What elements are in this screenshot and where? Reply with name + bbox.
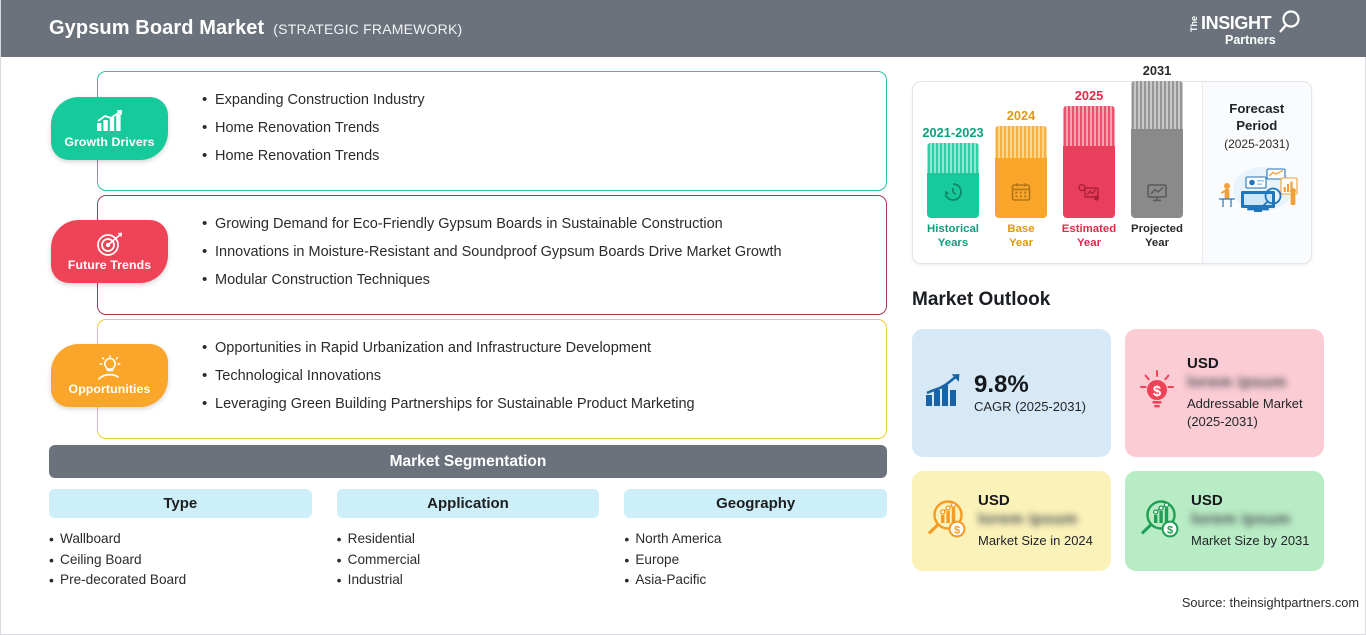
infographic-canvas: Gypsum Board Market (STRATEGIC FRAMEWORK… bbox=[0, 0, 1366, 635]
addressable-usd-label: USD bbox=[1187, 355, 1312, 372]
cagr-card-text: 9.8% CAGR (2025-2031) bbox=[974, 371, 1086, 416]
header-title-group: Gypsum Board Market (STRATEGIC FRAMEWORK… bbox=[49, 17, 462, 40]
market-segmentation-heading: Market Segmentation bbox=[49, 445, 887, 478]
insight-partners-logo: The INSIGHT Partners bbox=[1181, 8, 1309, 50]
segmentation-pill-application[interactable]: Application bbox=[337, 489, 600, 518]
list-item: Modular Construction Techniques bbox=[202, 266, 886, 294]
growth-drivers-badge[interactable]: Growth Drivers bbox=[51, 97, 168, 160]
bar-year-label: 2024 bbox=[1007, 108, 1035, 123]
opportunities-badge-label: Opportunities bbox=[69, 382, 151, 396]
list-item: Innovations in Moisture-Resistant and So… bbox=[202, 238, 886, 266]
forecast-period-range: (2025-2031) bbox=[1224, 137, 1289, 151]
segmentation-items-application: Residential Commercial Industrial bbox=[337, 529, 600, 591]
timeline-bar-projected: 2031 bbox=[1131, 63, 1183, 250]
lightbulb-dollar-icon: $ bbox=[1137, 369, 1177, 418]
market-size-2024-label: Market Size in 2024 bbox=[978, 532, 1093, 550]
future-trends-badge-label: Future Trends bbox=[68, 258, 151, 272]
list-item: Pre-decorated Board bbox=[49, 570, 312, 591]
segmentation-column-application: Application Residential Commercial Indus… bbox=[337, 489, 600, 591]
market-size-2031-usd-label: USD bbox=[1191, 492, 1310, 509]
cagr-value: 9.8% bbox=[974, 371, 1086, 398]
bar-caption: Historical Years bbox=[927, 223, 979, 250]
page-subtitle: (STRATEGIC FRAMEWORK) bbox=[273, 21, 462, 37]
bar-chart-growth-icon bbox=[95, 108, 125, 134]
bar-caption: Base Year bbox=[995, 223, 1047, 250]
clock-history-icon bbox=[942, 181, 964, 208]
market-size-2024-usd-label: USD bbox=[978, 492, 1093, 509]
segmentation-items-type: Wallboard Ceiling Board Pre-decorated Bo… bbox=[49, 529, 312, 591]
market-outlook-cards: 9.8% CAGR (2025-2031) bbox=[912, 329, 1324, 571]
bar-caption: Projected Year bbox=[1131, 223, 1183, 250]
page-header: Gypsum Board Market (STRATEGIC FRAMEWORK… bbox=[1, 0, 1366, 57]
projection-monitor-icon bbox=[1145, 181, 1169, 208]
list-item: Home Renovation Trends bbox=[202, 142, 886, 170]
lightbulb-hand-icon bbox=[95, 355, 125, 381]
forecast-period-title: Forecast Period bbox=[1229, 100, 1284, 134]
bar-year-label: 2031 bbox=[1143, 63, 1171, 78]
list-item: North America bbox=[624, 529, 887, 550]
market-size-2024-text: USD lorem ipsum Market Size in 2024 bbox=[978, 492, 1093, 550]
market-size-2024-value-blurred: lorem ipsum bbox=[978, 511, 1093, 529]
right-column: 2021-2023 bbox=[901, 57, 1366, 635]
left-column: Expanding Construction Industry Home Ren… bbox=[1, 57, 901, 635]
analytics-dashboard-illustration bbox=[1211, 161, 1303, 222]
segmentation-pill-type[interactable]: Type bbox=[49, 489, 312, 518]
forecast-title-line1: Forecast bbox=[1229, 101, 1284, 116]
market-outlook-heading: Market Outlook bbox=[912, 289, 1050, 311]
list-item: Residential bbox=[337, 529, 600, 550]
forecast-timeline-chart: 2021-2023 bbox=[912, 81, 1312, 264]
list-item: Europe bbox=[624, 550, 887, 571]
bar-year-label: 2025 bbox=[1075, 88, 1103, 103]
bar-caption: Estimated Year bbox=[1062, 223, 1116, 250]
list-item: Home Renovation Trends bbox=[202, 114, 886, 142]
list-item: Wallboard bbox=[49, 529, 312, 550]
future-trends-panel: Growing Demand for Eco-Friendly Gypsum B… bbox=[97, 195, 887, 315]
bar-chart-arrow-up-icon bbox=[924, 373, 964, 414]
cagr-label: CAGR (2025-2031) bbox=[974, 398, 1086, 416]
list-item: Growing Demand for Eco-Friendly Gypsum B… bbox=[202, 210, 886, 238]
market-size-2031-text: USD lorem ipsum Market Size by 2031 bbox=[1191, 492, 1310, 550]
market-size-2024-card: $ USD lorem ipsum Market Size in 2024 bbox=[912, 471, 1111, 571]
bar-body bbox=[995, 126, 1047, 218]
segmentation-column-geography: Geography North America Europe Asia-Paci… bbox=[624, 489, 887, 591]
list-item: Opportunities in Rapid Urbanization and … bbox=[202, 334, 886, 362]
magnifier-bar-chart-dollar-icon: $ bbox=[924, 498, 968, 545]
magnifier-bar-chart-dollar-icon: $ bbox=[1137, 498, 1181, 545]
svg-text:$: $ bbox=[954, 524, 960, 536]
calendar-icon bbox=[1010, 181, 1032, 208]
future-trends-badge[interactable]: Future Trends bbox=[51, 220, 168, 283]
list-item: Technological Innovations bbox=[202, 362, 886, 390]
timeline-bar-historical: 2021-2023 bbox=[927, 125, 979, 250]
estimate-chart-icon bbox=[1077, 181, 1101, 208]
market-size-2031-label: Market Size by 2031 bbox=[1191, 532, 1310, 550]
svg-text:INSIGHT: INSIGHT bbox=[1201, 13, 1272, 33]
timeline-bar-estimated: 2025 bbox=[1063, 88, 1115, 250]
segmentation-columns: Type Wallboard Ceiling Board Pre-decorat… bbox=[49, 489, 887, 591]
opportunities-panel: Opportunities in Rapid Urbanization and … bbox=[97, 319, 887, 439]
growth-drivers-badge-label: Growth Drivers bbox=[64, 135, 154, 149]
svg-text:$: $ bbox=[1153, 383, 1162, 400]
cagr-card: 9.8% CAGR (2025-2031) bbox=[912, 329, 1111, 457]
segmentation-items-geography: North America Europe Asia-Pacific bbox=[624, 529, 887, 591]
svg-text:$: $ bbox=[1167, 524, 1173, 536]
market-size-2031-card: $ USD lorem ipsum Market Size by 2031 bbox=[1125, 471, 1324, 571]
bar-body bbox=[1063, 106, 1115, 218]
list-item: Asia-Pacific bbox=[624, 570, 887, 591]
bar-body bbox=[927, 143, 979, 218]
growth-drivers-panel: Expanding Construction Industry Home Ren… bbox=[97, 71, 887, 191]
addressable-market-text: USD lorem ipsum Addressable Market (2025… bbox=[1187, 355, 1312, 431]
list-item: Industrial bbox=[337, 570, 600, 591]
segmentation-pill-geography[interactable]: Geography bbox=[624, 489, 887, 518]
target-dartboard-icon bbox=[96, 231, 124, 257]
segmentation-column-type: Type Wallboard Ceiling Board Pre-decorat… bbox=[49, 489, 312, 591]
forecast-title-line2: Period bbox=[1236, 118, 1277, 133]
market-size-2031-value-blurred: lorem ipsum bbox=[1191, 511, 1310, 529]
list-item: Leveraging Green Building Partnerships f… bbox=[202, 390, 886, 418]
bar-year-label: 2021-2023 bbox=[922, 125, 983, 140]
source-attribution: Source: theinsightpartners.com bbox=[1182, 595, 1359, 610]
future-trends-list: Growing Demand for Eco-Friendly Gypsum B… bbox=[98, 196, 886, 294]
addressable-market-label: Addressable Market (2025-2031) bbox=[1187, 395, 1312, 431]
opportunities-list: Opportunities in Rapid Urbanization and … bbox=[98, 320, 886, 418]
timeline-bars: 2021-2023 bbox=[913, 82, 1202, 263]
bar-body bbox=[1131, 81, 1183, 218]
page-title: Gypsum Board Market bbox=[49, 17, 264, 40]
addressable-market-card: $ USD lorem ipsum Addressable Market (20… bbox=[1125, 329, 1324, 457]
forecast-period-box: Forecast Period (2025-2031) bbox=[1202, 82, 1311, 263]
list-item: Expanding Construction Industry bbox=[202, 86, 886, 114]
svg-text:Partners: Partners bbox=[1225, 33, 1276, 47]
addressable-value-blurred: lorem ipsum bbox=[1187, 374, 1312, 392]
timeline-bar-base: 2024 bbox=[995, 108, 1047, 250]
list-item: Ceiling Board bbox=[49, 550, 312, 571]
opportunities-badge[interactable]: Opportunities bbox=[51, 344, 168, 407]
list-item: Commercial bbox=[337, 550, 600, 571]
svg-text:The: The bbox=[1189, 16, 1199, 32]
growth-drivers-list: Expanding Construction Industry Home Ren… bbox=[98, 72, 886, 170]
